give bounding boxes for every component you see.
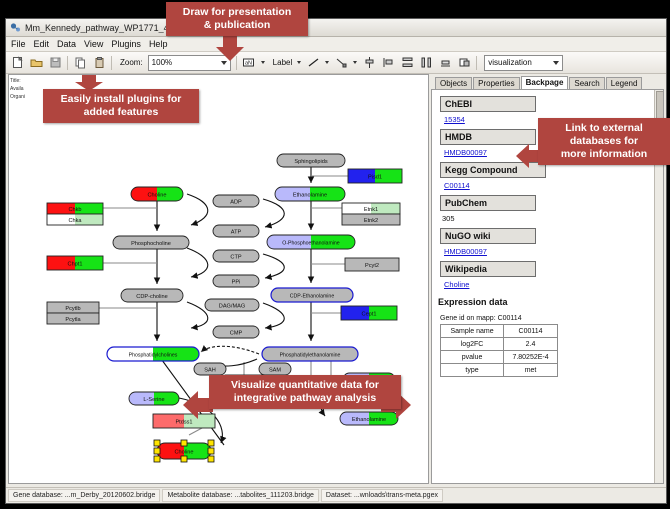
node-label: Chpt1 [68, 262, 83, 268]
status-bar: Gene database: ...m_Derby_20120602.bridg… [6, 487, 666, 503]
node-label: Phosphocholine [131, 241, 171, 247]
db-header-wikipedia: Wikipedia [440, 261, 536, 277]
node-label: O-Phosphoethanolamine [282, 241, 340, 247]
metabolite-node-o-phosphoethanolamine[interactable]: O-Phosphoethanolamine [267, 235, 355, 249]
node-label: CDP-Ethanolamine [290, 294, 335, 300]
node-label: Ethanolamine [293, 193, 327, 199]
exp-val-sample: C00114 [504, 325, 558, 338]
chevron-down-icon[interactable] [325, 61, 329, 64]
tool-bar: Zoom: 100% aN Label visua [6, 52, 666, 74]
node-label: ADP [230, 200, 242, 206]
distribute-horizontal-icon[interactable] [419, 56, 433, 70]
align-center-icon[interactable] [362, 56, 376, 70]
db-header-chebi: ChEBI [440, 96, 536, 112]
node-label: Etnk1 [364, 207, 378, 213]
menu-item-file[interactable]: File [11, 39, 26, 49]
open-file-icon[interactable] [29, 56, 43, 70]
table-row: type met [441, 364, 558, 377]
chevron-down-icon[interactable] [261, 61, 265, 64]
pathvisio-app-icon [10, 22, 21, 33]
label-tool-label: Label [273, 58, 293, 67]
metabolite-node-phosphocholine[interactable]: Phosphocholine [113, 236, 189, 249]
table-row: log2FC 2.4 [441, 338, 558, 351]
visualization-select[interactable]: visualization [484, 55, 563, 71]
node-label: Pcytlb [65, 306, 80, 312]
stack-icon[interactable] [438, 56, 452, 70]
metabolite-node-sam[interactable]: SAM [259, 363, 291, 375]
align-left-icon[interactable] [381, 56, 395, 70]
metabolite-node-sah[interactable]: SAH [194, 363, 226, 375]
expression-table: Sample name C00114 log2FC 2.4 pvalue 7.8… [440, 324, 558, 377]
metabolite-node-phosphatidylcholines[interactable]: Phosphatidylcholines [107, 347, 199, 361]
tab-legend[interactable]: Legend [606, 77, 643, 89]
callout-draw-text: Draw for presentation & publication [183, 6, 292, 31]
chevron-down-icon [553, 61, 559, 65]
toolbar-separator [67, 56, 68, 70]
menu-item-view[interactable]: View [84, 39, 103, 49]
callout-links: Link to external databases for more info… [538, 118, 670, 165]
chevron-down-icon [221, 61, 227, 65]
gene-node-chka[interactable]: Chka [47, 214, 103, 225]
menu-item-plugins[interactable]: Plugins [111, 39, 141, 49]
node-label: Pcytla [65, 317, 81, 323]
db-link-wikipedia[interactable]: Choline [444, 280, 663, 289]
anchor-icon[interactable] [334, 56, 348, 70]
selection-handle[interactable] [181, 440, 187, 446]
save-file-icon[interactable] [48, 56, 62, 70]
metabolite-node-cmp[interactable]: CMP [213, 326, 259, 338]
status-metabolite-database: Metabolite database: ...tabolites_111203… [162, 489, 318, 502]
status-gene-database: Gene database: ...m_Derby_20120602.bridg… [8, 489, 160, 502]
metabolite-node-phosphatidylethanolamine[interactable]: Phosphatidylethanolamine [262, 347, 358, 361]
metabolite-node-ethanolamine-1[interactable]: Ethanolamine [275, 187, 345, 201]
callout-plugins: Easily install plugins for added feature… [43, 89, 199, 123]
node-label: DAG/MAG [219, 304, 245, 310]
chevron-down-icon[interactable] [297, 61, 301, 64]
gene-node-pcytlb[interactable]: Pcytlb [47, 302, 99, 313]
metabolite-node-l-serine-left[interactable]: L-Serine [129, 392, 179, 405]
gene-node-etnk1[interactable]: Etnk1 [342, 203, 400, 214]
node-label: Phosphatidylcholines [129, 353, 178, 359]
node-label: Chkb [68, 207, 81, 213]
exp-key-log2fc: log2FC [441, 338, 504, 351]
line-icon[interactable] [306, 56, 320, 70]
order-icon[interactable] [457, 56, 471, 70]
metabolite-node-sphingolipids[interactable]: Sphingolipids [277, 154, 345, 167]
metabolite-node-ctp[interactable]: CTP [213, 250, 259, 262]
pathvisio-window: Mm_Kennedy_pathway_WP1771_45176.gpml Fil… [5, 18, 667, 504]
gene-node-cept1[interactable]: Cept1 [341, 306, 397, 320]
exp-key-sample: Sample name [441, 325, 504, 338]
pathway-canvas[interactable]: Title: Availa Organi [8, 74, 429, 484]
exp-val-type: met [504, 364, 558, 377]
metabolite-node-dagmag[interactable]: DAG/MAG [205, 299, 259, 311]
node-label: L-Serine [143, 397, 164, 403]
selection-handle[interactable] [208, 440, 214, 446]
node-label: Etnk2 [364, 218, 378, 224]
scrollbar-thumb[interactable] [656, 91, 664, 119]
paste-icon[interactable] [92, 56, 106, 70]
meta-availability-label: Availa [10, 85, 36, 93]
svg-text:aN: aN [245, 61, 252, 67]
metabolite-node-cdp-choline[interactable]: CDP-choline [121, 289, 183, 302]
gene-node-pisd1[interactable]: Pisd1 [348, 169, 402, 183]
node-label: CDP-choline [136, 294, 167, 300]
menu-item-data[interactable]: Data [57, 39, 76, 49]
pathway-meta-labels: Title: Availa Organi [10, 77, 36, 101]
exp-key-pvalue: pvalue [441, 351, 504, 364]
selection-handle[interactable] [208, 456, 214, 462]
node-label: Chka [68, 218, 82, 224]
node-label: SAM [269, 368, 281, 374]
meta-organism-label: Organi [10, 93, 36, 101]
callout-links-text: Link to external databases for more info… [561, 122, 647, 160]
toolbar-separator [476, 56, 477, 70]
chevron-down-icon[interactable] [353, 61, 357, 64]
node-label: PPi [232, 280, 241, 286]
gene-id-label: Gene id on mapp: C00114 [440, 315, 663, 322]
node-label: SAH [204, 368, 216, 374]
table-row: pvalue 7.80252E-4 [441, 351, 558, 364]
node-label: Choline [148, 193, 167, 199]
gene-node-pcytla[interactable]: Pcytla [47, 313, 99, 324]
menu-item-help[interactable]: Help [149, 39, 168, 49]
selection-handle[interactable] [154, 456, 160, 462]
callout-draw: Draw for presentation & publication [166, 2, 308, 36]
zoom-value: 100% [152, 58, 172, 67]
callout-visualize-text: Visualize quantitative data for integrat… [231, 379, 379, 404]
node-label: CMP [230, 331, 243, 337]
selection-handle[interactable] [154, 440, 160, 446]
db-value-pubchem: 305 [442, 214, 663, 223]
gene-node-chkb[interactable]: Chkb [47, 203, 103, 214]
exp-key-type: type [441, 364, 504, 377]
db-header-nugo: NuGO wiki [440, 228, 536, 244]
selection-handle[interactable] [181, 456, 187, 462]
gene-node-pcyt2[interactable]: Pcyt2 [345, 258, 399, 271]
exp-val-log2fc: 2.4 [504, 338, 558, 351]
metabolite-node-adp[interactable]: ADP [213, 195, 259, 207]
pathway-diagram[interactable]: SphingolipidsEthanolamineO-Phosphoethano… [9, 75, 429, 484]
tab-search[interactable]: Search [569, 77, 604, 89]
node-label: Pisd1 [368, 175, 382, 181]
status-dataset: Dataset: ...wnloads\trans-meta.pgex [321, 489, 443, 502]
node-label: Sphingolipids [294, 159, 327, 165]
node-label: Choline [175, 450, 194, 456]
metabolite-node-ppi[interactable]: PPi [213, 275, 259, 287]
gene-node-chpt1[interactable]: Chpt1 [47, 256, 103, 270]
node-label: Cept1 [362, 312, 377, 318]
toolbar-separator [111, 56, 112, 70]
meta-title-label: Title: [10, 77, 36, 85]
selection-handle[interactable] [208, 448, 214, 454]
node-label: CTP [230, 255, 241, 261]
node-label: Phosphatidylethanolamine [280, 353, 341, 359]
expression-data-heading: Expression data [438, 297, 663, 307]
side-panel-tabs: Objects Properties Backpage Search Legen… [431, 74, 664, 90]
new-file-icon[interactable] [10, 56, 24, 70]
table-row: Sample name C00114 [441, 325, 558, 338]
db-link-nugo[interactable]: HMDB00097 [444, 247, 663, 256]
node-label: Pcyt2 [365, 263, 379, 269]
callout-visualize: Visualize quantitative data for integrat… [209, 375, 401, 409]
screenshot-root: Mm_Kennedy_pathway_WP1771_45176.gpml Fil… [0, 0, 670, 509]
metabolite-node-cdp-ethanolamine[interactable]: CDP-Ethanolamine [271, 288, 353, 302]
visualization-value: visualization [488, 58, 532, 67]
tab-properties[interactable]: Properties [473, 77, 519, 89]
tab-backpage[interactable]: Backpage [521, 76, 569, 89]
node-label: ATP [231, 230, 242, 236]
db-link-kegg[interactable]: C00114 [444, 181, 663, 190]
db-header-pubchem: PubChem [440, 195, 536, 211]
metabolite-node-atp[interactable]: ATP [213, 225, 259, 237]
gene-node-etnk2[interactable]: Etnk2 [342, 214, 400, 225]
menu-item-edit[interactable]: Edit [34, 39, 50, 49]
menu-bar: File Edit Data View Plugins Help [6, 37, 666, 52]
exp-val-pvalue: 7.80252E-4 [504, 351, 558, 364]
tab-objects[interactable]: Objects [435, 77, 472, 89]
metabolite-node-choline-top[interactable]: Choline [131, 187, 183, 201]
title-bar: Mm_Kennedy_pathway_WP1771_45176.gpml [6, 19, 666, 37]
distribute-vertical-icon[interactable] [400, 56, 414, 70]
metabolite-node-choline-selected[interactable]: Choline [154, 440, 214, 462]
copy-icon[interactable] [73, 56, 87, 70]
zoom-label: Zoom: [120, 58, 143, 67]
selection-handle[interactable] [154, 448, 160, 454]
callout-plugins-text: Easily install plugins for added feature… [61, 93, 182, 118]
